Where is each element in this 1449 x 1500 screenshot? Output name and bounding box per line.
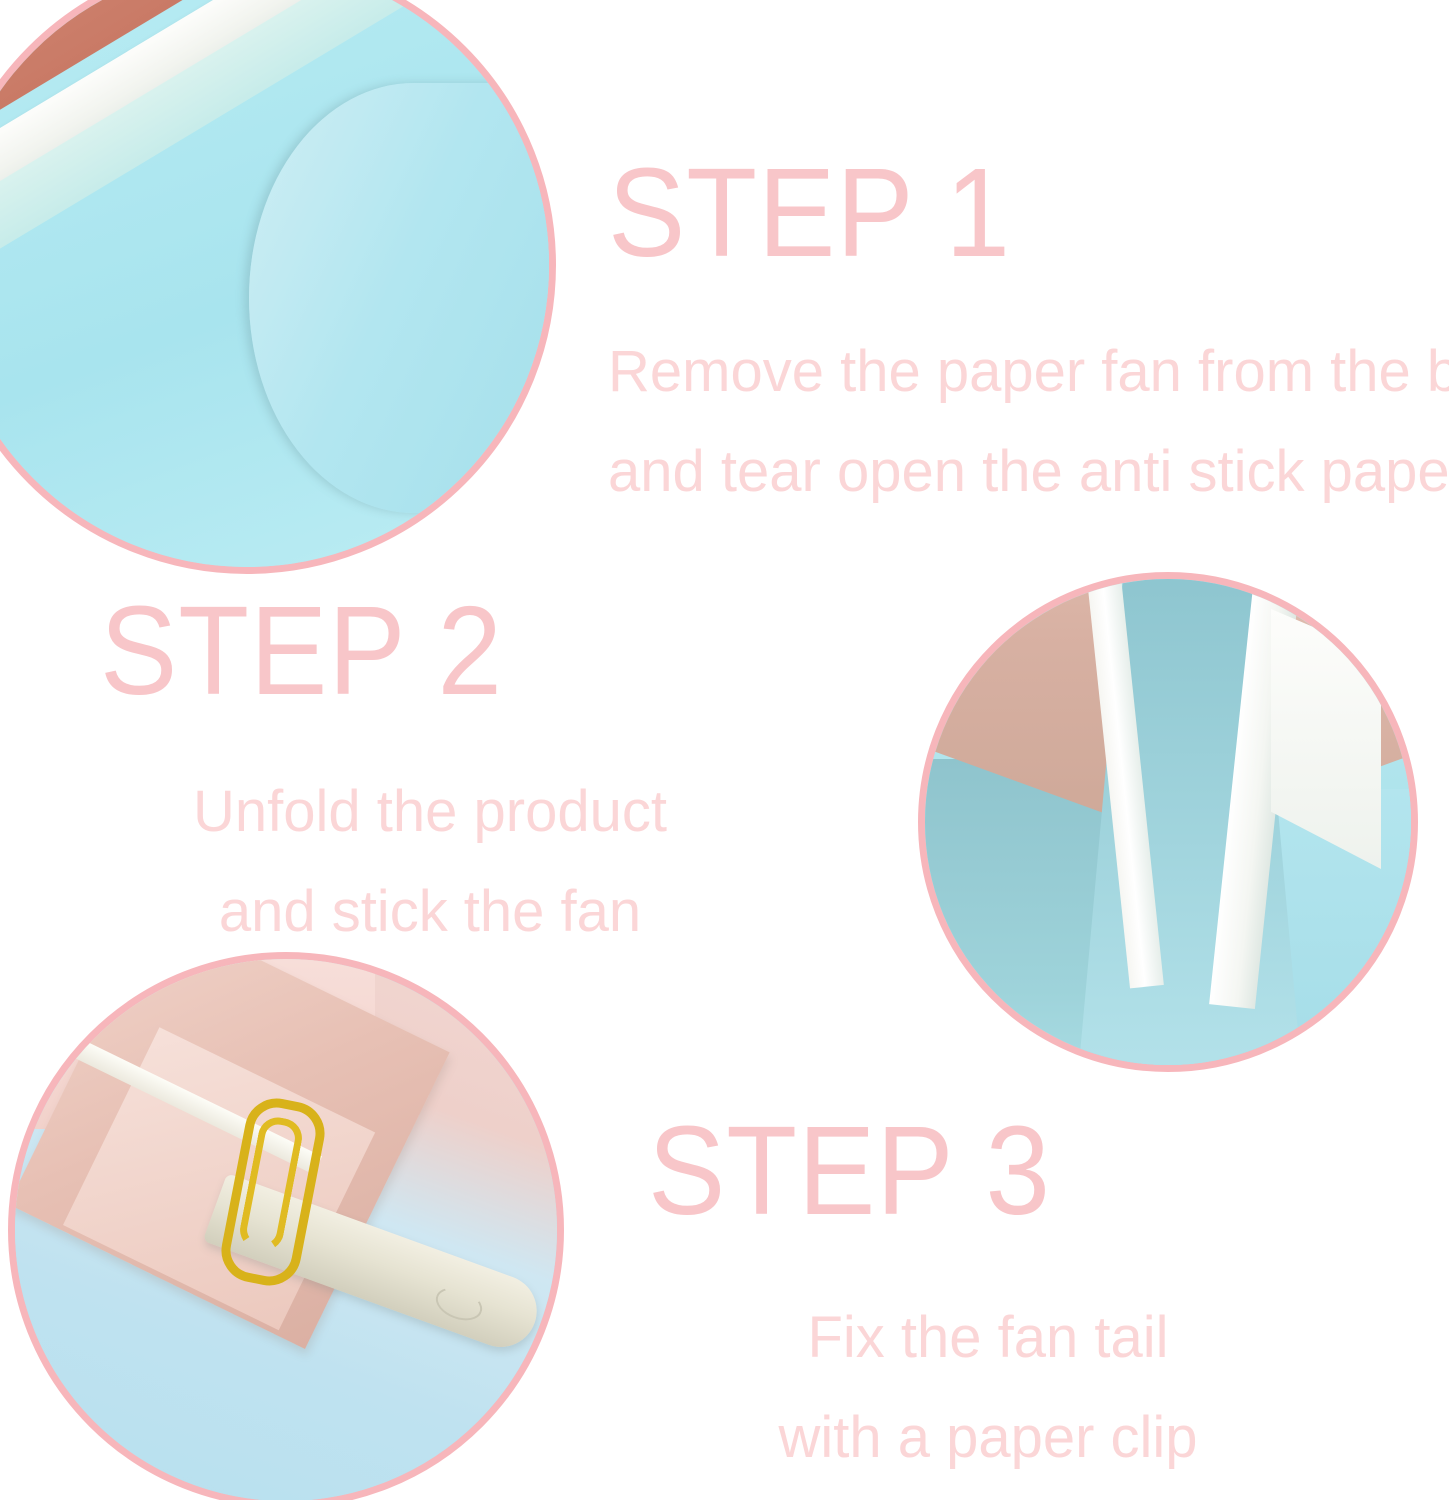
step-1-block: STEP 1 Remove the paper fan from the bag… bbox=[608, 150, 1449, 522]
paperclip-fan-tail-photo bbox=[8, 952, 564, 1500]
step-1-line-2: and tear open the anti stick paper bbox=[608, 422, 1449, 522]
step-2-block: STEP 2 Unfold the product and stick the … bbox=[100, 588, 760, 962]
pleated-pink-fan-photo bbox=[0, 0, 556, 574]
step-1-title: STEP 1 bbox=[608, 150, 1449, 276]
step-2-line-1: Unfold the product bbox=[100, 762, 760, 862]
photo-1-inner bbox=[0, 0, 549, 567]
unfolded-fan-photo bbox=[918, 572, 1418, 1072]
instruction-infographic: STEP 1 Remove the paper fan from the bag… bbox=[0, 0, 1449, 1500]
step-3-block: STEP 3 Fix the fan tail with a paper cli… bbox=[648, 1108, 1328, 1488]
step-2-title: STEP 2 bbox=[100, 588, 707, 714]
photo-3-inner bbox=[15, 959, 557, 1500]
step-2-line-2: and stick the fan bbox=[100, 862, 760, 962]
photo-2-inner bbox=[925, 579, 1411, 1065]
step-3-title: STEP 3 bbox=[648, 1108, 1274, 1234]
step-3-line-2: with a paper clip bbox=[648, 1388, 1328, 1488]
step-1-line-1: Remove the paper fan from the bag bbox=[608, 322, 1449, 422]
step-3-line-1: Fix the fan tail bbox=[648, 1288, 1328, 1388]
